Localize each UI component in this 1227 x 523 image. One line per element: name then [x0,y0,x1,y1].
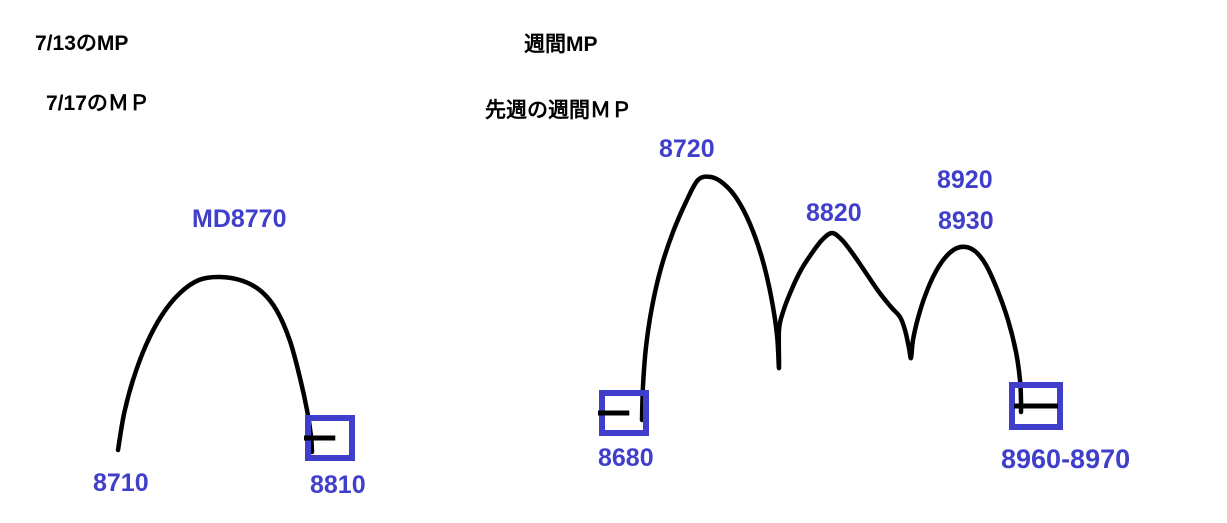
right-marker-box-start [602,393,646,433]
right-peak-label-3: 8920 [937,168,993,193]
left-marker-box [308,418,352,458]
left-axis-label-start: 8710 [93,471,149,496]
right-marker-box-group-1 [598,393,646,433]
left-marker-box-group [304,418,352,458]
right-peak-label-2: 8820 [806,201,862,226]
right-marker-box-end [1012,385,1060,427]
right-heading-1: 週間MP [524,34,598,55]
right-axis-label-start: 8680 [598,446,654,471]
right-heading-2: 先週の週間ＭＰ [485,100,632,121]
right-marker-box-group-2 [1012,385,1060,427]
right-peak-label-4: 8930 [938,209,994,234]
left-axis-label-end: 8810 [310,473,366,498]
left-heading-1: 7/13のMP [35,33,128,54]
left-heading-2: 7/17のＭＰ [46,93,150,114]
left-mp-curve [118,277,312,452]
right-axis-label-end: 8960-8970 [1001,446,1130,473]
diagram-canvas: 7/13のMP 7/17のＭＰ 週間MP 先週の週間ＭＰ MD8770 8710… [0,0,1227,523]
left-peak-label: MD8770 [192,207,287,232]
right-peak-label-1: 8720 [659,137,715,162]
